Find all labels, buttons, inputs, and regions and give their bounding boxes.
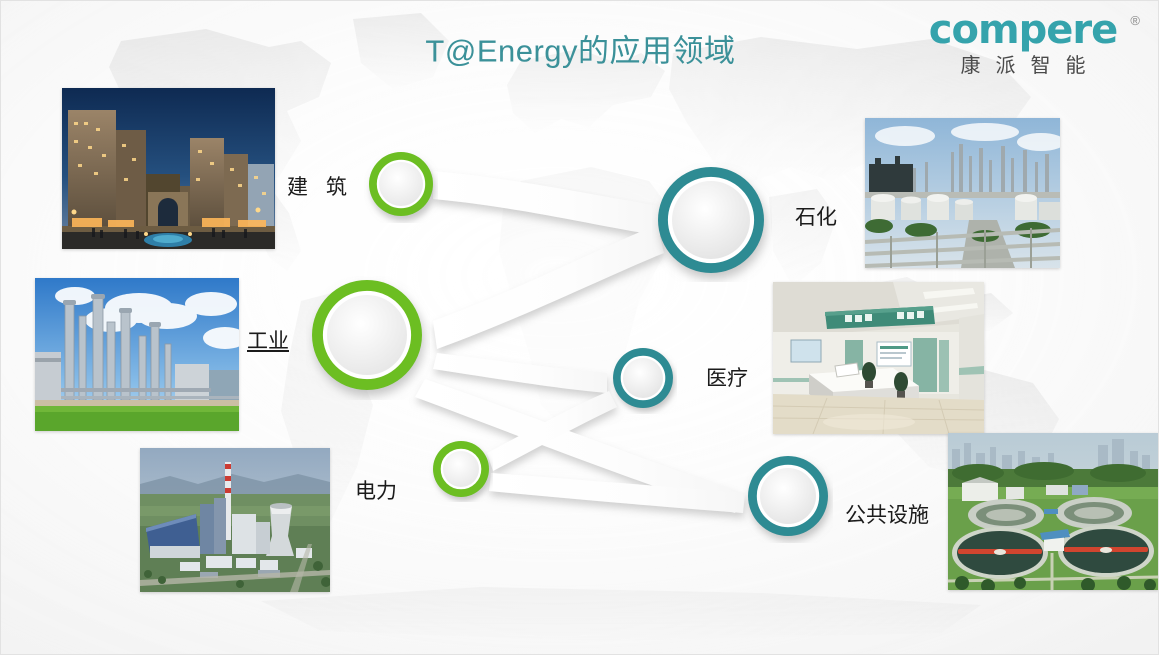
- photo-chemical-plant: [35, 278, 239, 431]
- node-label-public-facilities: 公共设施: [845, 499, 929, 529]
- node-ring-public-facilities[interactable]: [743, 453, 833, 543]
- node-ring-architecture[interactable]: [364, 149, 438, 223]
- node-ring-medical[interactable]: [609, 346, 677, 414]
- node-label-architecture: 建 筑: [287, 171, 353, 201]
- node-label-industry: 工业: [247, 325, 289, 355]
- registered-trademark-icon: ®: [1130, 13, 1140, 28]
- logo-wordmark: compere: [904, 9, 1142, 51]
- slide-canvas: 建 筑 工业 电力 石化 医疗 公共设施 T@Energy的应用领域 compe…: [0, 0, 1159, 655]
- photo-oil-refinery: [865, 118, 1060, 268]
- node-label-power: 电力: [355, 475, 397, 505]
- photo-power-station: [140, 448, 330, 592]
- node-ring-petrochemical[interactable]: [652, 162, 772, 282]
- node-label-petrochemical: 石化: [795, 201, 837, 231]
- photo-residential-buildings: [62, 88, 275, 249]
- node-ring-power[interactable]: [429, 438, 493, 502]
- node-label-medical: 医疗: [706, 362, 748, 392]
- photo-water-treatment-plant: [948, 433, 1159, 590]
- logo-subtitle: 康派智能: [904, 54, 1142, 78]
- brand-logo: compere ® 康派智能: [904, 9, 1142, 85]
- photo-hospital-nurse-station: [773, 282, 984, 434]
- node-ring-industry[interactable]: [306, 276, 430, 400]
